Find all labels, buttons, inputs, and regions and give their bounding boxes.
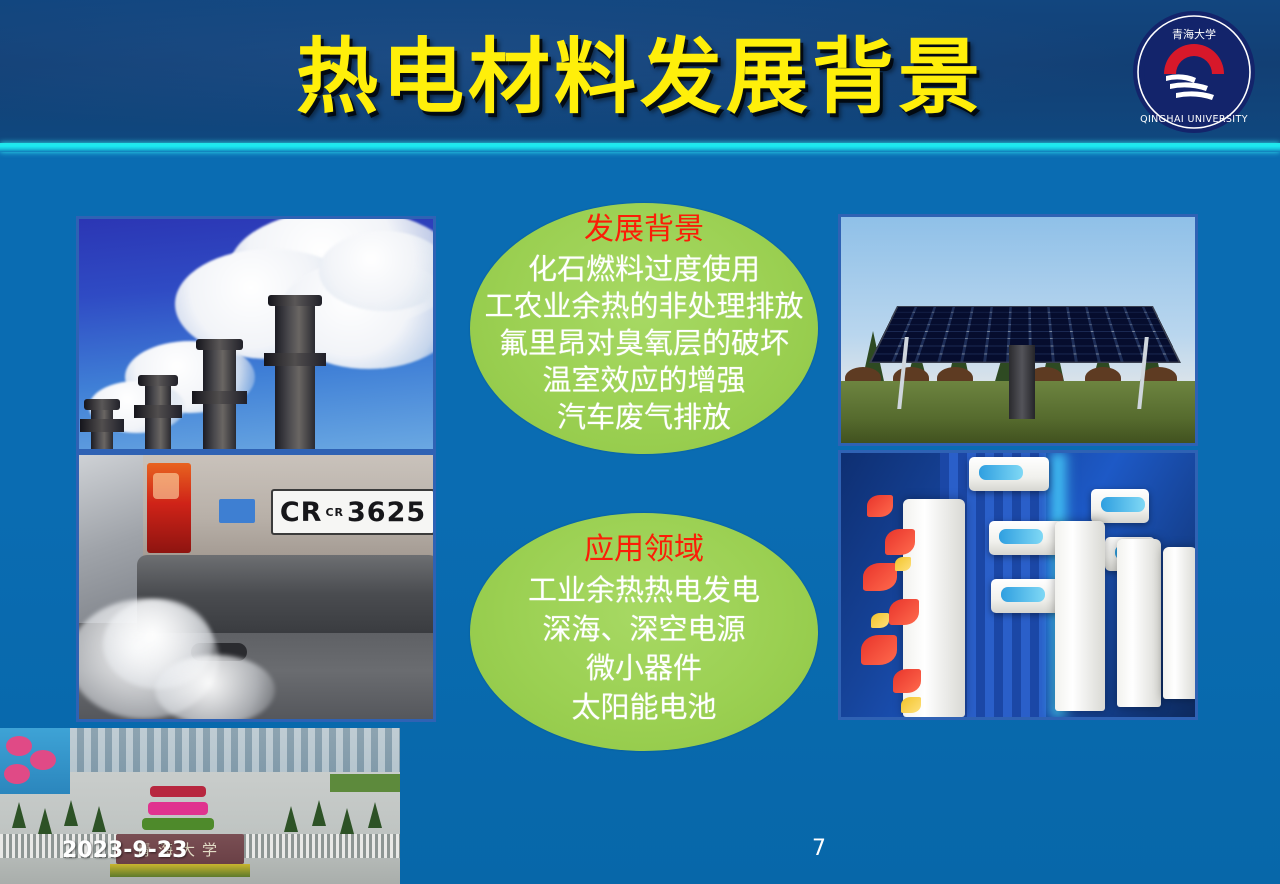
- lawn: [330, 774, 400, 792]
- decorative-leaf: [871, 613, 889, 628]
- wall-ac-unit: [989, 521, 1063, 555]
- svg-text:青海大学: 青海大学: [1172, 27, 1216, 41]
- decorative-leaf: [895, 557, 911, 571]
- ellipse-line: 工业余热热电发电: [528, 571, 760, 610]
- decorative-flower: [867, 495, 893, 517]
- footer-date: 2023-9-23: [62, 838, 187, 863]
- ellipse-line: 温室效应的增强: [542, 362, 745, 399]
- ellipse-line: 太阳能电池: [571, 688, 716, 727]
- wall-ac-unit: [1091, 489, 1149, 523]
- decorative-flower: [863, 563, 897, 591]
- taillight: [147, 463, 191, 553]
- decorative-flower: [885, 529, 915, 555]
- license-plate: CR CR 3625: [271, 489, 435, 535]
- development-background-ellipse: 发展背景 化石燃料过度使用 工农业余热的非处理排放 氟里昂对臭氧层的破坏 温室效…: [470, 203, 818, 454]
- application-fields-ellipse: 应用领域 工业余热热电发电 深海、深空电源 微小器件 太阳能电池: [470, 513, 818, 751]
- panel-center-post: [1009, 345, 1035, 419]
- floor-ac-unit: [1163, 547, 1197, 699]
- ellipse-line: 工农业余热的非处理排放: [484, 288, 803, 325]
- qinghai-university-logo-icon: 青海大学 QINGHAI UNIVERSITY: [1130, 8, 1258, 136]
- ellipse-line: 微小器件: [586, 649, 702, 688]
- wall-ac-unit: [991, 579, 1061, 613]
- exhaust-smoke: [155, 655, 275, 722]
- vehicle-badge: [219, 499, 255, 523]
- plate-small-code: CR: [325, 506, 344, 519]
- ellipse-line: 汽车废气排放: [557, 399, 731, 436]
- photo-campus: 青海大学: [0, 728, 400, 884]
- smokestack: [275, 295, 315, 452]
- photo-car-exhaust: CR CR 3625: [76, 452, 436, 722]
- ellipse-title-development-background: 发展背景: [584, 211, 704, 249]
- smokestack: [91, 399, 113, 452]
- presentation-slide: 热电材料发展背景 青海大学 QINGHAI UNIVERSITY: [0, 0, 1280, 884]
- photo-air-conditioners: [838, 450, 1198, 720]
- smokestack: [145, 375, 171, 452]
- decorative-flower: [893, 669, 921, 693]
- plate-number: 3625: [347, 497, 426, 528]
- photo-smokestacks: [76, 216, 436, 452]
- photo-solar-panel: [838, 214, 1198, 446]
- decorative-leaf: [901, 697, 921, 713]
- flower-bed: [142, 818, 214, 830]
- ellipse-line: 深海、深空电源: [542, 610, 745, 649]
- flower-bed: [148, 802, 208, 815]
- ellipse-line: 氟里昂对臭氧层的破坏: [499, 325, 789, 362]
- pink-flower: [6, 736, 32, 756]
- flower-hedge: [110, 864, 250, 877]
- smokestack: [203, 339, 236, 452]
- svg-text:QINGHAI UNIVERSITY: QINGHAI UNIVERSITY: [1140, 114, 1248, 125]
- decorative-flower: [889, 599, 919, 625]
- wall-ac-unit: [969, 457, 1049, 491]
- decorative-flower: [861, 635, 897, 665]
- pink-flower: [30, 750, 56, 770]
- page-title: 热电材料发展背景: [0, 27, 1280, 127]
- floor-ac-unit: [1117, 539, 1161, 707]
- plate-prefix: CR: [280, 497, 323, 528]
- ellipse-line: 化石燃料过度使用: [528, 251, 760, 288]
- pink-flower: [4, 764, 30, 784]
- footer-page-number: 7: [812, 836, 826, 861]
- university-logo: 青海大学 QINGHAI UNIVERSITY: [1130, 8, 1258, 136]
- floor-ac-unit: [1055, 521, 1105, 711]
- flower-bed: [150, 786, 206, 797]
- ellipse-title-application-fields: 应用领域: [584, 531, 704, 569]
